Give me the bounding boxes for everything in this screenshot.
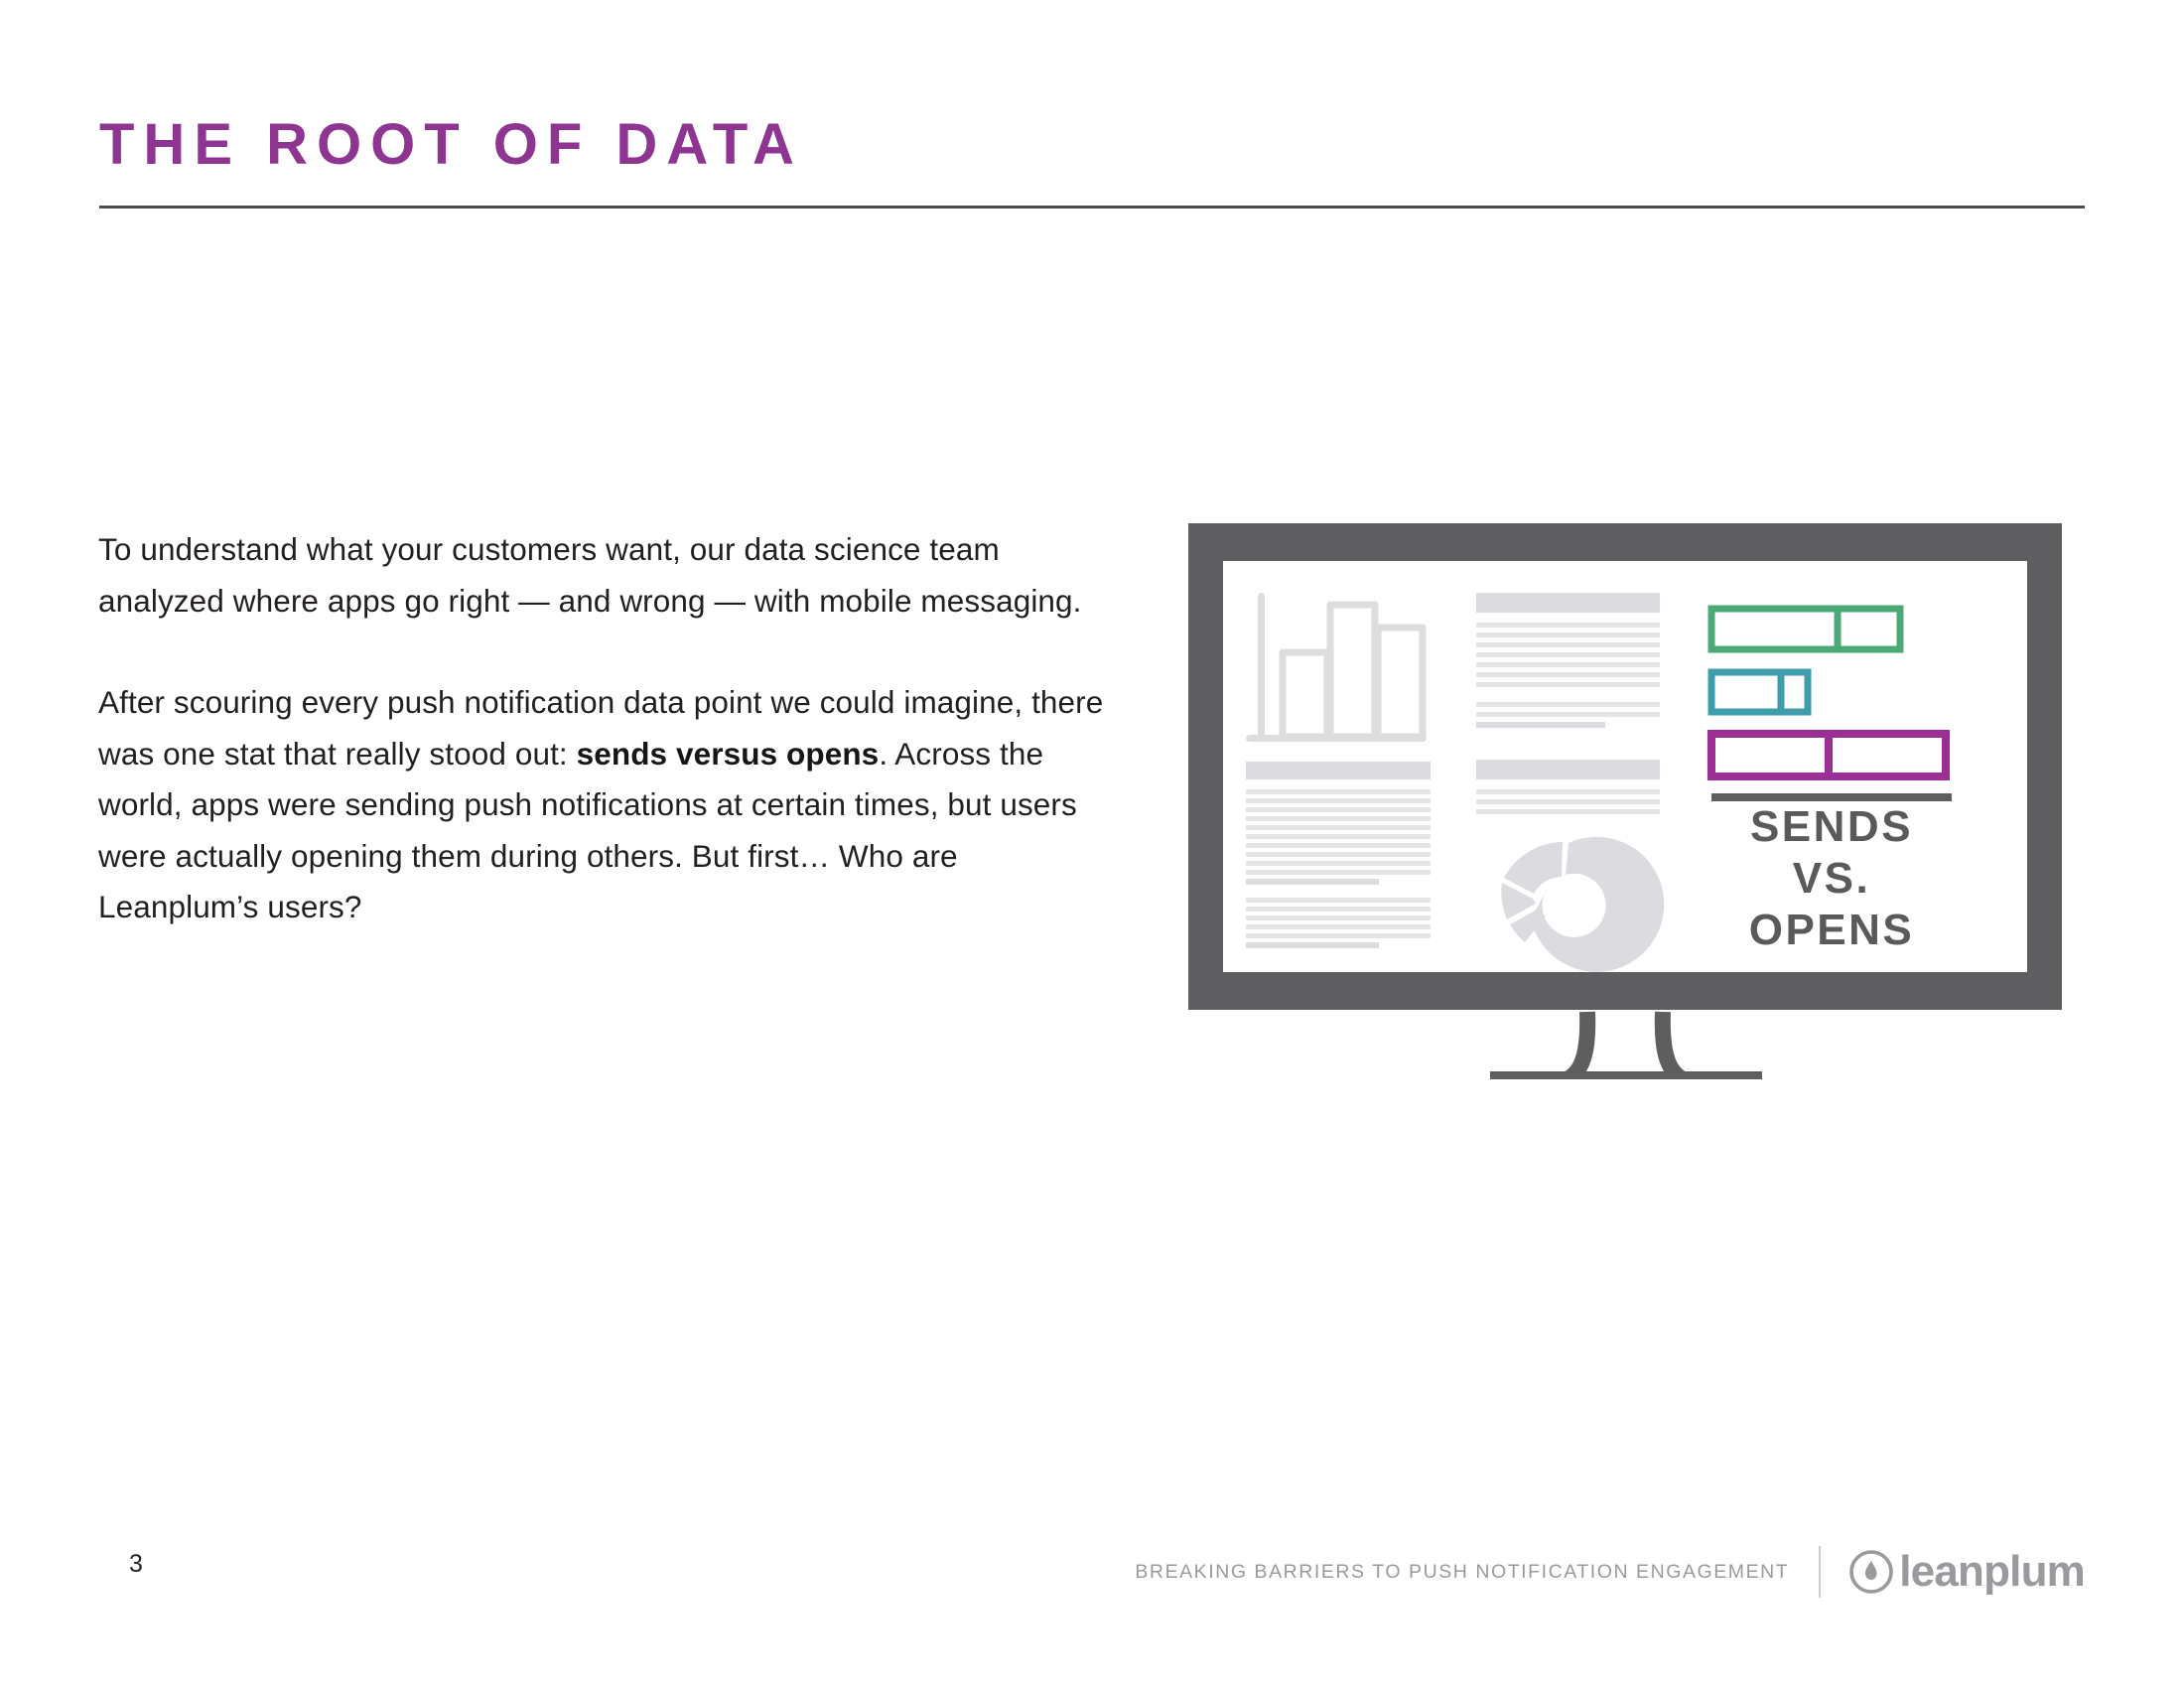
leanplum-circle-plum-icon: [1848, 1549, 1894, 1595]
leanplum-wordmark: leanplum: [1899, 1550, 2085, 1594]
footer-divider: [1819, 1546, 1821, 1598]
paragraph-2: After scouring every push notification d…: [98, 677, 1111, 933]
caption-line-opens: OPENS: [1749, 906, 1915, 954]
caption-line-vs: VS.: [1793, 854, 1870, 903]
page-title: THE ROOT OF DATA: [99, 116, 803, 174]
leanplum-logo: leanplum: [1848, 1549, 2085, 1595]
footer: BREAKING BARRIERS TO PUSH NOTIFICATION E…: [1135, 1544, 2085, 1600]
slide-root: THE ROOT OF DATA To understand what your…: [0, 0, 2184, 1688]
paragraph-1: To understand what your customers want, …: [98, 524, 1111, 627]
caption-line-sends: SENDS: [1750, 802, 1913, 851]
color-bars-axis: [1711, 793, 1952, 801]
paragraph-2-emphasis: sends versus opens: [577, 736, 880, 772]
title-divider-rule: [99, 206, 2085, 209]
monitor-svg: SENDS VS. OPENS: [1188, 523, 2102, 1079]
monitor-stand: [1538, 1012, 1712, 1079]
monitor-illustration: SENDS VS. OPENS: [1188, 523, 2102, 1084]
footer-tagline: BREAKING BARRIERS TO PUSH NOTIFICATION E…: [1135, 1561, 1789, 1584]
screen-text-placeholder-left: [1246, 762, 1431, 948]
page-number: 3: [129, 1550, 143, 1579]
body-copy: To understand what your customers want, …: [98, 524, 1111, 933]
